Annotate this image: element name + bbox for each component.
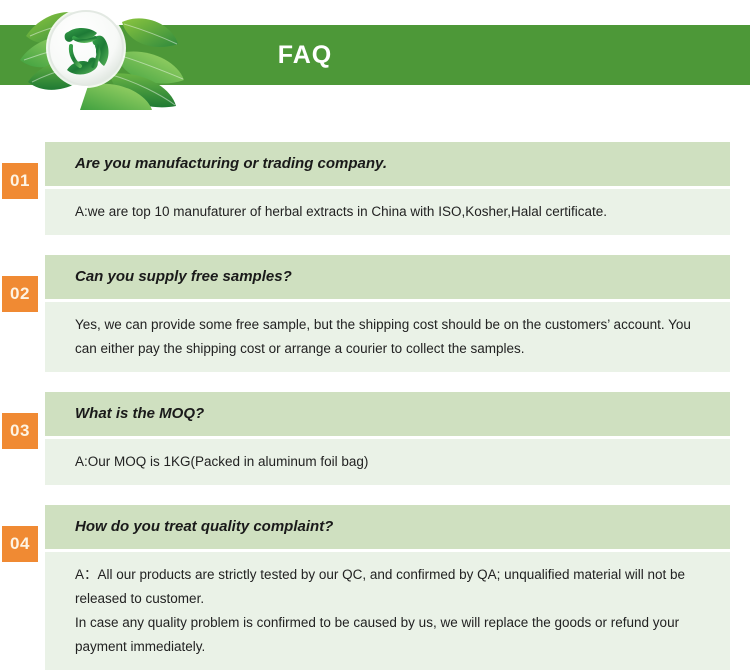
page-header: FAQ (0, 0, 750, 110)
faq-item: 01 Are you manufacturing or trading comp… (0, 142, 750, 235)
faq-item: 03 What is the MOQ? A:Our MOQ is 1KG(Pac… (0, 392, 750, 485)
leaf-circle-logo (18, 0, 218, 110)
faq-answer-line: Yes, we can provide some free sample, bu… (75, 313, 712, 361)
faq-item: 04 How do you treat quality complaint? A… (0, 505, 750, 670)
faq-answer-line: A:Our MOQ is 1KG(Packed in aluminum foil… (75, 450, 712, 474)
faq-question: How do you treat quality complaint? (45, 505, 730, 549)
faq-question: Are you manufacturing or trading company… (45, 142, 730, 186)
faq-number-badge: 02 (2, 276, 38, 312)
faq-answer: Yes, we can provide some free sample, bu… (45, 302, 730, 372)
faq-number-badge: 01 (2, 163, 38, 199)
faq-question: What is the MOQ? (45, 392, 730, 436)
faq-number-badge: 03 (2, 413, 38, 449)
faq-answer: A:we are top 10 manufaturer of herbal ex… (45, 189, 730, 235)
faq-number-badge: 04 (2, 526, 38, 562)
faq-item: 02 Can you supply free samples? Yes, we … (0, 255, 750, 372)
faq-question: Can you supply free samples? (45, 255, 730, 299)
faq-answer: A:Our MOQ is 1KG(Packed in aluminum foil… (45, 439, 730, 485)
faq-list: 01 Are you manufacturing or trading comp… (0, 110, 750, 670)
faq-answer-line: In case any quality problem is confirmed… (75, 611, 712, 659)
faq-answer-line: A:we are top 10 manufaturer of herbal ex… (75, 200, 712, 224)
page-title: FAQ (240, 25, 370, 85)
faq-answer-line: A：All our products are strictly tested b… (75, 563, 712, 611)
faq-answer: A：All our products are strictly tested b… (45, 552, 730, 670)
